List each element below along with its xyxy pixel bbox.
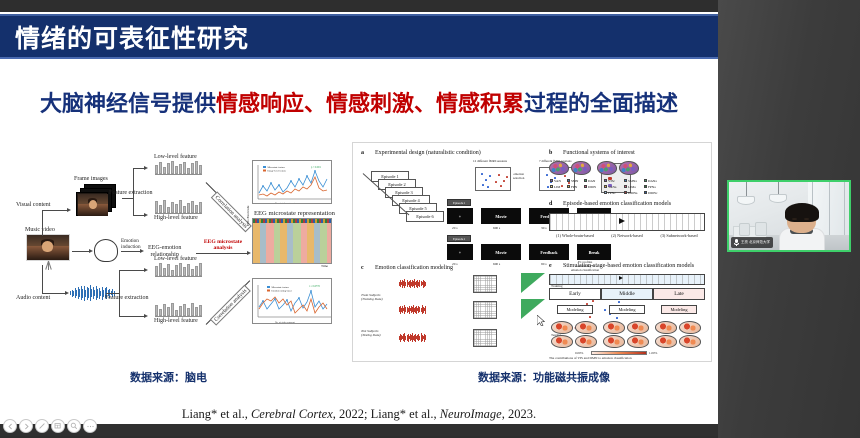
label-emotion-induction: Emotioninduction bbox=[121, 239, 141, 251]
eeg-microstate-map bbox=[252, 218, 332, 264]
legend-swatch bbox=[644, 185, 647, 188]
legend-swatch bbox=[550, 179, 553, 182]
label-correlation-analysis-bottom: Correlation analysis bbox=[210, 284, 251, 325]
label-test-subjects: Test Subjects(Testing Data) bbox=[361, 329, 381, 337]
microphone-icon bbox=[734, 239, 739, 246]
legend-label: DAN bbox=[588, 179, 595, 183]
legend-swatch bbox=[644, 179, 647, 182]
label-microstate-ylabel: EEG Electrode bbox=[246, 206, 250, 226]
trial2-block-break: Break bbox=[577, 244, 611, 260]
source-label-eeg: 数据来源：脑电 bbox=[130, 369, 207, 385]
plot-svg-bottom: Microstate feature Emotion rating-onset … bbox=[253, 279, 332, 324]
stage-cell-late: Late bbox=[653, 288, 705, 300]
svg-text:p < 0.001: p < 0.001 bbox=[311, 166, 322, 169]
model-label-subnetwork: (3) Subnetwork-based bbox=[655, 233, 703, 238]
legend-swatch bbox=[567, 179, 570, 182]
figure-fmri-panels: a Experimental design (naturalistic cond… bbox=[352, 142, 712, 362]
model-label-network: (2) Network-based bbox=[603, 233, 651, 238]
person-eye-left bbox=[792, 218, 797, 220]
bars-high-level-visual bbox=[155, 200, 202, 214]
legend-label: DMN bbox=[588, 185, 596, 189]
mouse-cursor bbox=[537, 315, 545, 326]
person-eye-right bbox=[804, 218, 809, 220]
trial-time-1: 20 s bbox=[452, 226, 458, 230]
label-microstate-xlabel: Time bbox=[321, 264, 328, 268]
slide-subtitle: 大脑神经信号提供情感响应、情感刺激、情感积累过程的全面描述 bbox=[0, 86, 718, 118]
panel-e-letter: e bbox=[549, 263, 552, 269]
brain-surface-lateral-right bbox=[597, 161, 617, 175]
slide-stage[interactable]: 情绪的可表征性研究 大脑神经信号提供情感响应、情感刺激、情感积累过程的全面描述 bbox=[0, 12, 718, 424]
brain-surface-lateral-left bbox=[549, 161, 569, 175]
legend-label: DMNa bbox=[628, 191, 637, 195]
legend-label: VAN bbox=[554, 179, 561, 183]
trial-block-movie: Movie bbox=[481, 208, 521, 224]
bold-timeseries-3 bbox=[399, 333, 426, 342]
pendant-lamp-cord bbox=[746, 182, 747, 196]
brain-result-late-1 bbox=[655, 321, 677, 334]
participant-name-chip: 王亮 北京师范大学 bbox=[731, 237, 773, 248]
brain-result-early-3 bbox=[551, 335, 573, 348]
fc-matrix-1 bbox=[473, 275, 497, 293]
brain-head-icon bbox=[94, 239, 118, 262]
brain-surface-medial-right bbox=[619, 161, 639, 175]
person-hair bbox=[785, 203, 819, 222]
legend-swatch bbox=[567, 185, 570, 188]
model-label-whole-brain: (1) Whole-brain-based bbox=[551, 233, 599, 238]
pendant-lamp-shade bbox=[737, 196, 755, 205]
bars-high-level-audio bbox=[155, 303, 202, 317]
label-feature-extraction-visual: Feature extraction bbox=[109, 190, 152, 196]
legend-label: FPNc bbox=[608, 191, 616, 195]
block-tag-1: Episode i bbox=[447, 199, 471, 206]
video-participant-sidebar[interactable]: 王亮 北京师范大学 bbox=[718, 0, 860, 438]
brain-result-early-4 bbox=[575, 335, 597, 348]
plot-correlation-emotion-rating: Microstate feature Emotion rating-onset … bbox=[252, 278, 332, 324]
top-dark-strip bbox=[0, 0, 718, 12]
chevron-left-icon bbox=[7, 423, 14, 430]
previous-slide-button[interactable] bbox=[3, 419, 17, 433]
participant-name: 王亮 北京师范大学 bbox=[741, 240, 770, 244]
subtitle-segment-3: 过程的全面描述 bbox=[524, 91, 678, 116]
legend-swatch bbox=[584, 179, 587, 182]
brain-surface-medial-left bbox=[571, 161, 591, 175]
panel-e-title: Stimulation-stage-based emotion classifi… bbox=[563, 263, 694, 269]
fc-triangle-1 bbox=[521, 273, 545, 293]
brain-result-late-2 bbox=[679, 321, 701, 334]
legend-label: DMNc bbox=[648, 191, 657, 195]
panel-d-title: Episode-based emotion classification mod… bbox=[563, 201, 671, 207]
svg-text:Image-level feature: Image-level feature bbox=[268, 170, 287, 173]
pendant-lamp-cord bbox=[778, 182, 779, 194]
legend-label: DANa bbox=[648, 179, 657, 183]
episode-card: Episode 6 bbox=[406, 211, 444, 222]
pen-icon bbox=[38, 422, 46, 430]
presentation-window: 情绪的可表征性研究 大脑神经信号提供情感响应、情感刺激、情感积累过程的全面描述 bbox=[0, 0, 860, 438]
label-eeg-microstate-analysis: EEG microstate analysis bbox=[197, 239, 249, 252]
legend-swatch bbox=[550, 185, 553, 188]
page-title: 情绪的可表征性研究 bbox=[15, 19, 249, 55]
legend-swatch bbox=[604, 185, 607, 188]
figure-eeg-pipeline: Music video Visual content bbox=[8, 146, 338, 360]
office-chair bbox=[739, 223, 750, 236]
legend-label: VISc bbox=[608, 179, 615, 183]
legend-label: VANa bbox=[608, 185, 616, 189]
fc-matrix-2 bbox=[473, 301, 497, 319]
label-emotion-selection: emotionselection bbox=[513, 173, 524, 181]
legend-label: SMN bbox=[571, 179, 578, 183]
trial2-time-3: 90 s bbox=[541, 262, 547, 266]
legend-swatch bbox=[624, 185, 627, 188]
label-audio-content: Audio content bbox=[16, 295, 50, 301]
panel-e-caption: The contributions of VIS and DMN to emot… bbox=[549, 356, 632, 360]
stage-cell-middle: Middle bbox=[601, 288, 653, 300]
panel-c-letter: c bbox=[361, 265, 364, 271]
model-scale-bar-d bbox=[549, 213, 705, 231]
brain-result-middle-4 bbox=[627, 335, 649, 348]
legend-label: SMNa bbox=[628, 179, 637, 183]
model-cell-early: Modeling bbox=[557, 305, 593, 314]
subtitle-segment-1: 大脑神经信号提供 bbox=[40, 91, 216, 116]
scatter-session-group-1 bbox=[475, 167, 511, 191]
participant-video-tile[interactable]: 王亮 北京师范大学 bbox=[727, 180, 851, 252]
legend-swatch bbox=[604, 191, 607, 194]
plot-svg-top: Microstate feature Image-level feature p… bbox=[253, 161, 332, 204]
scale-direction-marker-e bbox=[619, 276, 623, 280]
trial2-block-feedback: Feedback bbox=[529, 244, 569, 260]
legend-label: LIMa bbox=[628, 185, 636, 189]
figures-region: Music video Visual content bbox=[0, 140, 718, 365]
source-label-fmri: 数据来源：功能磁共振成像 bbox=[478, 369, 610, 385]
trial2-block-fixation: + bbox=[447, 244, 473, 260]
model-cell-middle: Modeling bbox=[609, 305, 645, 314]
legend-swatch bbox=[624, 179, 627, 182]
trial2-block-movie: Movie bbox=[481, 244, 521, 260]
colorbar-min-label: 0.00% bbox=[575, 351, 583, 355]
panel-b-letter: b bbox=[549, 150, 552, 156]
label-frame-images: Frame images bbox=[74, 176, 108, 182]
slide-title-bar: 情绪的可表征性研究 bbox=[0, 14, 718, 59]
chevron-right-icon bbox=[23, 423, 30, 430]
music-video-thumbnail bbox=[26, 234, 70, 270]
panel-c-title: Emotion classification modeling bbox=[375, 265, 453, 271]
trial-time-3: 30 s bbox=[541, 226, 547, 230]
model-cell-late: Modeling bbox=[661, 305, 697, 314]
legend-swatch bbox=[584, 185, 587, 188]
zoom-tool-button[interactable] bbox=[67, 419, 81, 433]
panel-a-letter: a bbox=[361, 150, 364, 156]
trial2-time-2: 600 s bbox=[493, 262, 500, 266]
legend-label: FPN bbox=[571, 185, 577, 189]
svg-text:No. of video segment: No. of video segment bbox=[275, 202, 295, 204]
block-tag-2: Episode i bbox=[447, 235, 471, 242]
legend-swatch bbox=[624, 191, 627, 194]
label-low-level-feature-visual: Low-level feature bbox=[154, 154, 197, 160]
colorbar-max-label: 1.00% bbox=[649, 351, 657, 355]
label-train-subjects: Train Subjects(Training Data) bbox=[361, 293, 383, 301]
fc-matrix-3 bbox=[473, 329, 497, 347]
magnifier-icon bbox=[70, 422, 78, 430]
svg-text:r = 0.6776: r = 0.6776 bbox=[309, 285, 320, 288]
next-slide-button[interactable] bbox=[19, 419, 33, 433]
brain-result-early-2 bbox=[575, 321, 597, 334]
brain-result-middle-3 bbox=[603, 335, 625, 348]
trial-time-2: 600 s bbox=[493, 226, 500, 230]
panel-a-title: Experimental design (naturalistic condit… bbox=[375, 150, 481, 156]
brain-result-early-1 bbox=[551, 321, 573, 334]
legend-swatch bbox=[644, 191, 647, 194]
pen-tool-button[interactable] bbox=[35, 419, 49, 433]
label-music-video: Music video bbox=[25, 227, 55, 233]
participant-person bbox=[777, 202, 827, 251]
slideshow-control-bar[interactable] bbox=[0, 416, 718, 436]
bars-low-level-visual bbox=[155, 161, 202, 175]
more-options-button[interactable] bbox=[83, 419, 97, 433]
brain-result-middle-2 bbox=[627, 321, 649, 334]
subtitle-segment-2: 情感响应、情感刺激、情感积累 bbox=[216, 91, 524, 116]
brain-result-late-3 bbox=[655, 335, 677, 348]
label-high-level-feature-visual: High-level feature bbox=[154, 215, 198, 221]
legend-label: FPNa bbox=[648, 185, 656, 189]
bars-low-level-audio bbox=[155, 263, 202, 277]
label-session-group-1: 12 different fMRI sessions bbox=[473, 159, 507, 163]
label-visual-content: Visual content bbox=[16, 202, 50, 208]
panel-d-letter: d bbox=[549, 201, 552, 207]
label-low-level-feature-audio: Low-level feature bbox=[154, 256, 197, 262]
trial-block-fixation: + bbox=[447, 208, 473, 224]
brain-result-middle-1 bbox=[603, 321, 625, 334]
legend-label: LIM bbox=[554, 185, 560, 189]
stage-cell-early: Early bbox=[549, 288, 601, 300]
label-high-level-feature-audio: High-level feature bbox=[154, 318, 198, 324]
label-feature-extraction-audio: Feature extraction bbox=[105, 295, 148, 301]
all-slides-button[interactable] bbox=[51, 419, 65, 433]
grid-icon bbox=[54, 422, 62, 430]
colorbar bbox=[591, 351, 647, 355]
bold-timeseries-1 bbox=[399, 279, 426, 288]
panel-b-title: Functional systems of interest bbox=[563, 150, 635, 156]
office-chair bbox=[755, 222, 767, 236]
scale-direction-marker-d bbox=[619, 218, 625, 224]
brain-result-late-4 bbox=[679, 335, 701, 348]
stage-scale-bar-e bbox=[549, 274, 705, 285]
ellipsis-icon bbox=[86, 423, 95, 430]
plot-correlation-image-level: Microstate feature Image-level feature p… bbox=[252, 160, 332, 204]
bold-timeseries-2 bbox=[399, 305, 426, 314]
svg-text:Emotion rating-onset: Emotion rating-onset bbox=[272, 290, 293, 293]
label-microstate-representation: EEG microstate representation bbox=[254, 210, 335, 217]
svg-text:No. of video segment: No. of video segment bbox=[275, 321, 295, 324]
legend-swatch bbox=[604, 179, 607, 182]
